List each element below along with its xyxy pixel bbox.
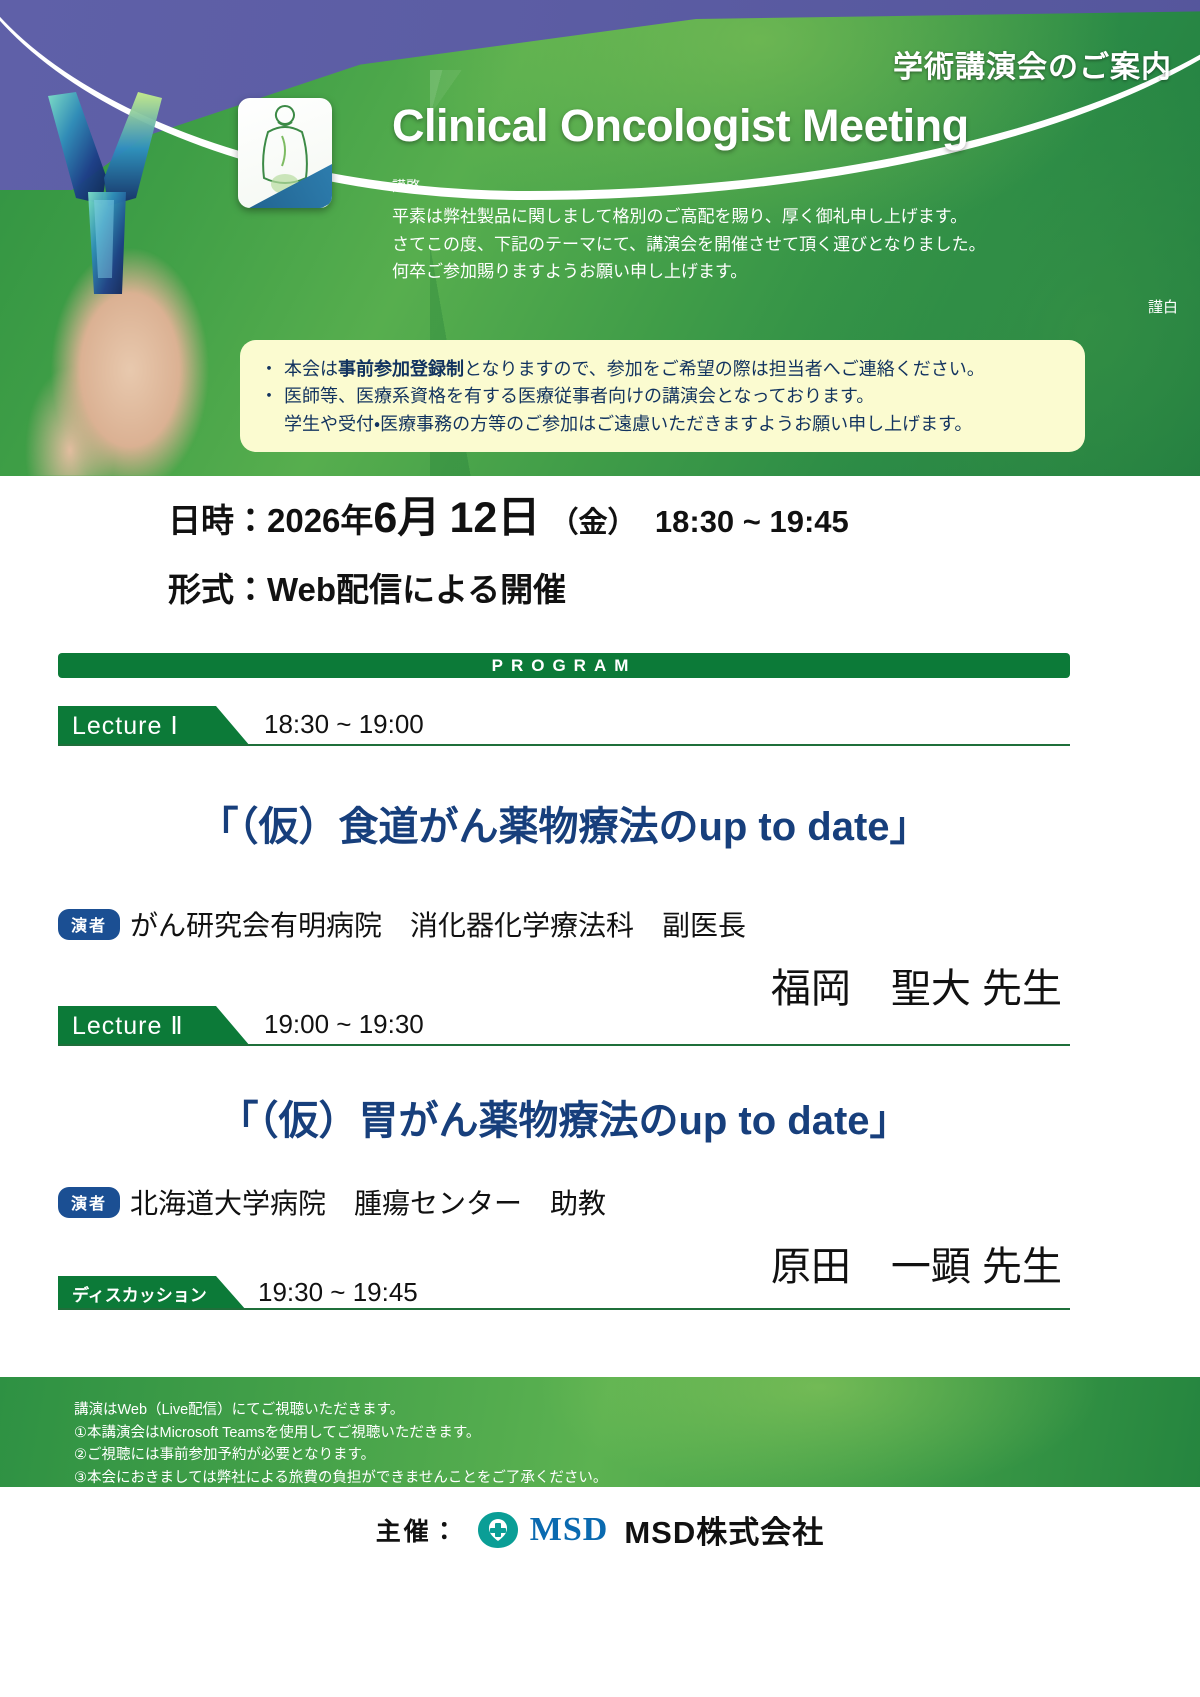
sponsor-label: 主催： <box>376 1512 460 1548</box>
date-weekday: （金） <box>550 507 637 539</box>
event-details: 日時：2026年6月 12日 （金） 18:30 ~ 19:45 形式：Web配… <box>0 496 1200 611</box>
format-label: 形式： <box>168 571 267 608</box>
footer-note-1: 講演はWeb（Live配信）にてご視聴いただきます。 <box>74 1399 607 1422</box>
discussion-rule <box>58 1308 1070 1310</box>
lecture-2-title: 「（仮）胃がん薬物療法のup to date」 <box>58 1088 1070 1146</box>
lecture-1-speaker-badge: 演者 <box>58 909 120 940</box>
greeting-line-3: 何卒ご参加賜りますようお願い申し上げます。 <box>392 258 1082 286</box>
discussion-tag: ディスカッション <box>58 1276 216 1310</box>
sponsor-row: 主催： MSD MSD株式会社 <box>0 1507 1200 1552</box>
discussion-tag-wedge <box>216 1276 246 1310</box>
lecture-1-title: 「（仮）食道がん薬物療法のup to date」 <box>58 794 1070 852</box>
greeting-line-2: さてこの度、下記のテーマにて、講演会を開催させて頂く運びとなりました。 <box>392 231 1082 259</box>
discussion-header: ディスカッション 19:30 ~ 19:45 <box>58 1276 1070 1310</box>
discussion-time: 19:30 ~ 19:45 <box>258 1277 418 1308</box>
notice-item-1-pre: 本会は <box>284 359 338 379</box>
date-month: 6月 <box>373 494 440 542</box>
footer-note-2: ①本講演会はMicrosoft Teamsを使用してご視聴いただきます。 <box>74 1422 607 1445</box>
date-label: 日時： <box>168 502 267 539</box>
lecture-2-header: Lecture Ⅱ 19:00 ~ 19:30 <box>58 1006 1070 1046</box>
notice-item-1: 本会は事前参加登録制となりますので、参加をご希望の際は担当者へご連絡ください。 <box>258 356 1067 383</box>
notice-item-1-bold: 事前参加登録制 <box>338 359 464 379</box>
date-time-range: 18:30 ~ 19:45 <box>655 504 849 539</box>
lecture-2-tag: Lecture Ⅱ <box>58 1006 216 1046</box>
lecture-2-speaker-badge: 演者 <box>58 1187 120 1218</box>
lecture-1-rule <box>58 744 1070 746</box>
footer: 講演はWeb（Live配信）にてご視聴いただきます。 ①本講演会はMicroso… <box>0 1377 1200 1697</box>
event-date-line: 日時：2026年6月 12日 （金） 18:30 ~ 19:45 <box>0 496 1200 541</box>
lecture-1-affiliation: がん研究会有明病院 消化器化学療法科 副医長 <box>130 904 746 944</box>
format-value: Web配信による開催 <box>267 571 566 608</box>
msd-wordmark: MSD <box>530 1511 609 1549</box>
lecture-1-time: 18:30 ~ 19:00 <box>264 709 424 740</box>
y-crystal-icon <box>42 88 170 298</box>
sponsor-company: MSD株式会社 <box>624 1507 824 1552</box>
date-day: 12日 <box>450 494 541 542</box>
greeting-open: 謹啓 <box>392 176 1082 196</box>
program-section-lecture-1: Lecture Ⅰ 18:30 ~ 19:00 「（仮）食道がん薬物療法のup … <box>58 706 1070 1014</box>
greeting-close: 謹白 <box>1148 296 1178 317</box>
footer-notes: 講演はWeb（Live配信）にてご視聴いただきます。 ①本講演会はMicroso… <box>74 1399 607 1489</box>
lecture-2-time: 19:00 ~ 19:30 <box>264 1009 424 1040</box>
event-format-line: 形式：Web配信による開催 <box>0 563 1200 611</box>
program-heading: PROGRAM <box>58 653 1070 678</box>
program-section-discussion: ディスカッション 19:30 ~ 19:45 <box>58 1276 1070 1310</box>
program-section-lecture-2: Lecture Ⅱ 19:00 ~ 19:30 「（仮）胃がん薬物療法のup t… <box>58 1006 1070 1292</box>
date-year: 2026年 <box>267 502 373 539</box>
footer-note-3: ②ご視聴には事前参加予約が必要となります。 <box>74 1444 607 1467</box>
msd-mark-icon <box>476 1510 520 1550</box>
lecture-2-speaker-affiliation-row: 演者北海道大学病院 腫瘍センター 助教 <box>58 1182 1070 1222</box>
notice-box: 本会は事前参加登録制となりますので、参加をご希望の際は担当者へご連絡ください。 … <box>240 340 1085 452</box>
lecture-2-affiliation: 北海道大学病院 腫瘍センター 助教 <box>130 1182 606 1222</box>
notice-item-2: 医師等、医療系資格を有する医療従事者向けの講演会となっております。 <box>258 383 1067 410</box>
lecture-2-rule <box>58 1044 1070 1046</box>
lecture-1-header: Lecture Ⅰ 18:30 ~ 19:00 <box>58 706 1070 746</box>
footer-note-4: ③本会におきましては弊社による旅費の負担ができませんことをご了承ください。 <box>74 1467 607 1490</box>
header-banner: 学術講演会のご案内 Clinical Oncologist Meeting 謹啓… <box>0 0 1200 476</box>
notice-item-1-post: となりますので、参加をご希望の際は担当者へご連絡ください。 <box>464 359 985 379</box>
human-body-diagram-icon <box>238 98 332 208</box>
header-kicker: 学術講演会のご案内 <box>893 42 1172 86</box>
lecture-1-speaker-affiliation-row: 演者がん研究会有明病院 消化器化学療法科 副医長 <box>58 904 1070 944</box>
page-title: Clinical Oncologist Meeting <box>392 100 969 152</box>
notice-item-2-sub: 学生や受付・医療事務の方等のご参加はご遠慮いただきますようお願い申し上げます。 <box>258 411 1067 438</box>
greeting-block: 謹啓 平素は弊社製品に関しまして格別のご高配を賜り、厚く御礼申し上げます。 さて… <box>392 176 1082 286</box>
lecture-1-tag-wedge <box>216 706 250 746</box>
lecture-1-tag: Lecture Ⅰ <box>58 706 216 746</box>
msd-logo: MSD <box>476 1510 609 1550</box>
lecture-2-tag-wedge <box>216 1006 250 1046</box>
greeting-line-1: 平素は弊社製品に関しまして格別のご高配を賜り、厚く御礼申し上げます。 <box>392 203 1082 231</box>
